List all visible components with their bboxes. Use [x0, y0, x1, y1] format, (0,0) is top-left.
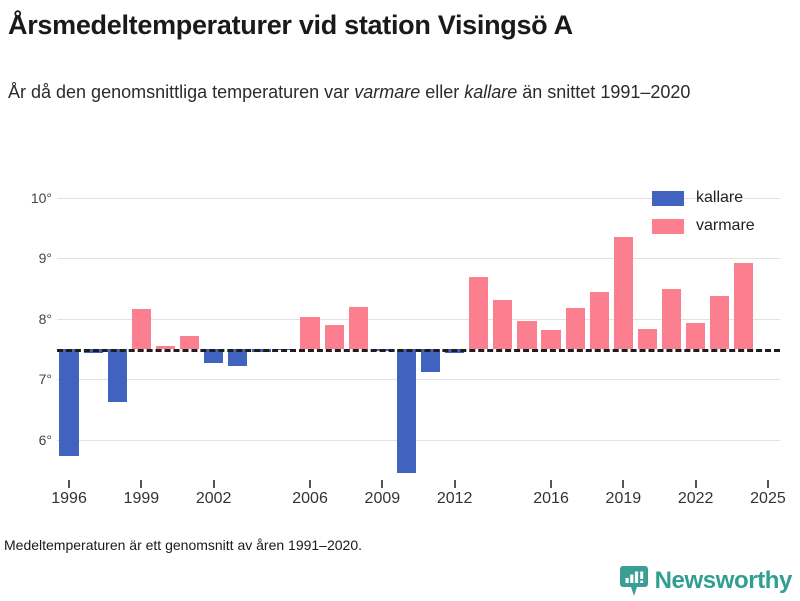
x-axis-label-2012: 2012 — [425, 490, 485, 508]
bar-2017[interactable] — [566, 308, 585, 349]
bar-2008[interactable] — [349, 307, 368, 349]
bar-2015[interactable] — [517, 321, 536, 349]
x-axis-label-2022: 2022 — [666, 490, 726, 508]
brand-name: Newsworthy — [655, 567, 792, 595]
x-tick-2025 — [767, 480, 769, 488]
page-title: Årsmedeltemperaturer vid station Visings… — [8, 8, 788, 42]
subtitle-text-1: År då den genomsnittliga temperaturen va… — [8, 82, 354, 102]
bar-1996[interactable] — [59, 349, 78, 456]
x-tick-2002 — [213, 480, 215, 488]
x-axis-label-2019: 2019 — [593, 490, 653, 508]
x-axis-label-1996: 1996 — [39, 490, 99, 508]
bar-2006[interactable] — [300, 317, 319, 349]
bar-2011[interactable] — [421, 349, 440, 372]
subtitle-text-3: än snittet 1991–2020 — [517, 82, 690, 102]
bar-2021[interactable] — [662, 289, 681, 349]
legend-swatch-varmare — [652, 219, 684, 234]
bar-2007[interactable] — [325, 325, 344, 349]
bar-2013[interactable] — [469, 277, 488, 349]
bar-2010[interactable] — [397, 349, 416, 473]
legend-item-varmare[interactable]: varmare — [652, 214, 755, 238]
x-axis-label-1999: 1999 — [111, 490, 171, 508]
x-axis-label-2006: 2006 — [280, 490, 340, 508]
subtitle-text-2: eller — [420, 82, 464, 102]
bar-2020[interactable] — [638, 329, 657, 349]
x-tick-1999 — [140, 480, 142, 488]
x-axis-label-2016: 2016 — [521, 490, 581, 508]
x-tick-2016 — [550, 480, 552, 488]
brand-logo[interactable]: Newsworthy — [620, 566, 792, 596]
bar-chart-pin-icon — [620, 566, 648, 596]
legend-item-kallare[interactable]: kallare — [652, 186, 755, 210]
subtitle-emph-varmare: varmare — [354, 82, 420, 102]
x-axis-label-2025: 2025 — [738, 490, 798, 508]
bar-2024[interactable] — [734, 263, 753, 349]
bar-1998[interactable] — [108, 349, 127, 402]
x-axis-label-2002: 2002 — [184, 490, 244, 508]
x-tick-2009 — [381, 480, 383, 488]
x-tick-2012 — [454, 480, 456, 488]
footnote: Medeltemperaturen är ett genomsnitt av å… — [4, 537, 362, 553]
bar-2014[interactable] — [493, 300, 512, 349]
x-tick-1996 — [68, 480, 70, 488]
bar-2023[interactable] — [710, 296, 729, 349]
legend-label-kallare: kallare — [696, 189, 743, 207]
bar-2022[interactable] — [686, 323, 705, 349]
chart-legend: kallare varmare — [652, 186, 755, 242]
x-axis: 1996199920022006200920122016201920222025 — [0, 480, 800, 520]
legend-swatch-kallare — [652, 191, 684, 206]
x-tick-2022 — [695, 480, 697, 488]
subtitle-emph-kallare: kallare — [464, 82, 517, 102]
legend-label-varmare: varmare — [696, 217, 755, 235]
chart-page: Årsmedeltemperaturer vid station Visings… — [0, 0, 800, 600]
page-subtitle: År då den genomsnittliga temperaturen va… — [8, 78, 768, 106]
bar-2018[interactable] — [590, 292, 609, 349]
bar-1999[interactable] — [132, 309, 151, 349]
x-axis-label-2009: 2009 — [352, 490, 412, 508]
x-tick-2019 — [622, 480, 624, 488]
bar-2001[interactable] — [180, 336, 199, 349]
bar-2019[interactable] — [614, 237, 633, 349]
average-baseline — [57, 349, 780, 352]
x-tick-2006 — [309, 480, 311, 488]
bar-2016[interactable] — [541, 330, 560, 349]
